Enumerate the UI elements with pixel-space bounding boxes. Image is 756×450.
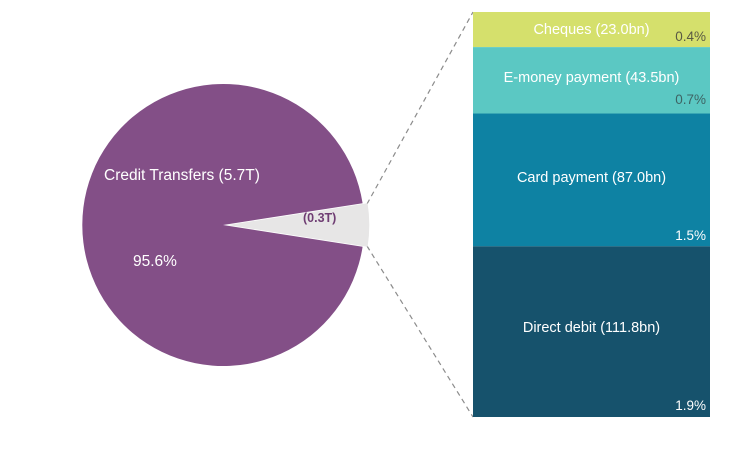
bar-percent-card-payment: 1.5% <box>473 228 710 243</box>
pie-label-other: (0.3T) <box>303 211 336 225</box>
bar-label-e-money-payment: E-money payment (43.5bn) <box>473 70 710 86</box>
bar-label-direct-debit: Direct debit (111.8bn) <box>473 320 710 336</box>
pie-of-bar-chart: Credit Transfers (5.7T) 95.6% (0.3T) Che… <box>0 0 756 450</box>
chart-canvas <box>0 0 756 450</box>
bar-percent-direct-debit: 1.9% <box>473 398 710 413</box>
pie-group <box>82 84 369 366</box>
connector-lines <box>367 12 473 417</box>
connector-line-top <box>367 12 473 204</box>
pie-label-credit-transfers: Credit Transfers (5.7T) <box>104 167 260 185</box>
bar-label-card-payment: Card payment (87.0bn) <box>473 170 710 186</box>
connector-line-bottom <box>367 246 473 417</box>
pie-percent-credit-transfers: 95.6% <box>133 253 177 271</box>
bar-percent-e-money-payment: 0.7% <box>473 92 710 107</box>
bar-percent-cheques: 0.4% <box>473 29 710 44</box>
